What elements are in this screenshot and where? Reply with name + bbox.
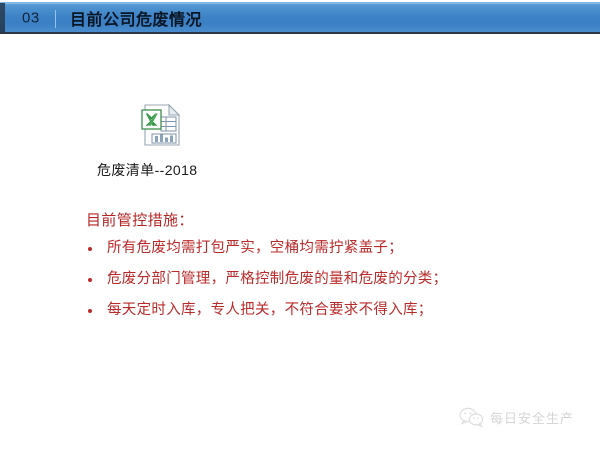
bullet-dot-icon — [88, 309, 92, 313]
watermark-label: 每日安全生产 — [490, 408, 574, 427]
list-item-label: 危废分部门管理，严格控制危废的量和危废的分类； — [107, 271, 447, 287]
page-title: 目前公司危废情况 — [70, 6, 202, 30]
bullet-dot-icon — [88, 278, 92, 282]
section-number: 03 — [22, 9, 40, 26]
wechat-logo-icon — [459, 406, 485, 428]
file-caption: 危废清单--2018 — [97, 160, 197, 180]
list-item-label: 每天定时入库，专人把关，不符合要求不得入库； — [107, 302, 433, 318]
excel-file-icon[interactable] — [139, 101, 183, 149]
section-header-bar: 03 目前公司危废情况 — [0, 2, 600, 34]
list-item-label: 所有危废均需打包严实，空桶均需拧紧盖子； — [107, 240, 403, 256]
list-item: 危废分部门管理，严格控制危废的量和危废的分类； — [86, 271, 556, 288]
list-item: 所有危废均需打包严实，空桶均需拧紧盖子； — [86, 240, 556, 257]
watermark: 每日安全生产 — [459, 406, 574, 428]
measures-list: 所有危废均需打包严实，空桶均需拧紧盖子； 危废分部门管理，严格控制危废的量和危废… — [86, 240, 556, 333]
bullet-dot-icon — [88, 247, 92, 251]
header-divider — [55, 10, 56, 28]
measures-heading: 目前管控措施： — [86, 209, 194, 230]
list-item: 每天定时入库，专人把关，不符合要求不得入库； — [86, 302, 556, 319]
slide-canvas: 03 目前公司危废情况 — [0, 0, 600, 450]
